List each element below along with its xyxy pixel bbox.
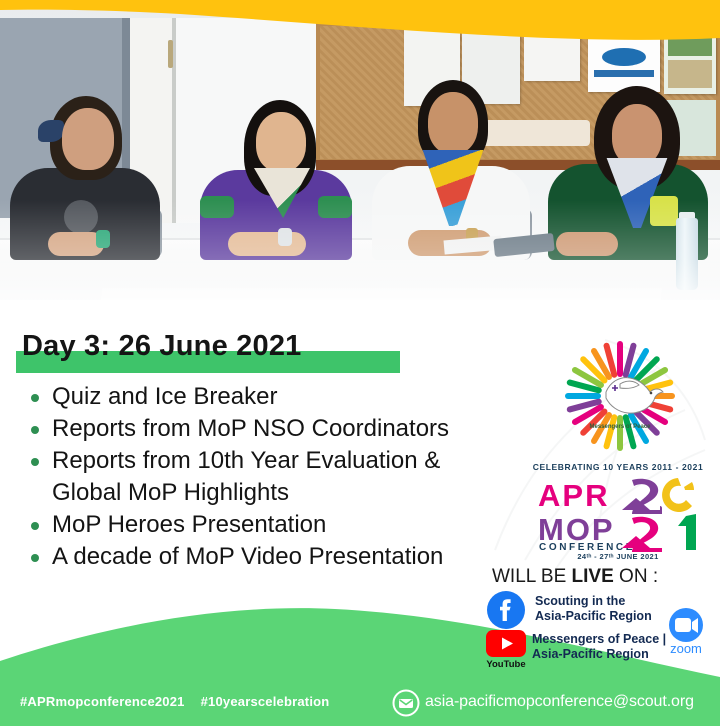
zoom-icon[interactable]: zoom [662, 607, 710, 657]
logo-conference-dates: 24ᵗʰ - 27ᵗʰ JUNE 2021 [528, 552, 708, 561]
envelope-icon [392, 689, 420, 717]
agenda-item-label: Reports from MoP NSO Coordinators [52, 415, 449, 442]
agenda-item-continuation: Global MoP Highlights [22, 478, 512, 508]
dove-caption: Messengers of Peace [589, 424, 651, 430]
live-on-post: ON : [614, 566, 658, 587]
apr-mop-2021-wordmark: APR MOP CONFERENCE [536, 474, 704, 552]
live-on-pre: WILL BE [492, 566, 572, 587]
bullet-icon [31, 394, 39, 402]
hashtag-celebration: #10yearscelebration [201, 694, 330, 709]
top-yellow-banner [0, 0, 720, 46]
live-on-heading: WILL BE LIVE ON : [492, 566, 658, 588]
youtube-icon[interactable]: YouTube [484, 630, 528, 668]
logo-conference: CONFERENCE [539, 542, 635, 552]
agenda-item-label: Reports from 10th Year Evaluation & [52, 447, 440, 474]
agenda-item: Quiz and Ice Breaker [22, 382, 512, 412]
poster-canvas: Day 3: 26 June 2021 Quiz and Ice Breaker… [0, 0, 720, 726]
youtube-wordmark: YouTube [486, 659, 525, 668]
footer-hashtags: #APRmopconference2021#10yearscelebration [20, 694, 345, 709]
agenda-item-label: A decade of MoP Video Presentation [52, 543, 443, 570]
youtube-line-2: Asia-Pacific Region [532, 647, 672, 662]
messengers-of-peace-starburst-icon: Messengers of Peace [550, 336, 690, 462]
bullet-icon [31, 522, 39, 530]
zoom-wordmark: zoom [670, 641, 702, 656]
facebook-icon[interactable] [487, 591, 525, 629]
facebook-line-1: Scouting in the [535, 594, 660, 609]
hashtag-conference: #APRmopconference2021 [20, 694, 185, 709]
facebook-line-2: Asia-Pacific Region [535, 609, 660, 624]
apr-mop-conference-logo: Messengers of Peace CELEBRATING 10 YEARS… [528, 336, 708, 568]
bullet-icon [31, 426, 39, 434]
logo-apr: APR [538, 478, 609, 513]
bullet-icon [31, 458, 39, 466]
youtube-channel-label: Messengers of Peace | Asia-Pacific Regio… [532, 632, 672, 662]
youtube-line-1: Messengers of Peace | [532, 632, 672, 647]
agenda-item: MoP Heroes Presentation [22, 510, 512, 540]
bullet-icon [31, 554, 39, 562]
facebook-channel-label: Scouting in the Asia-Pacific Region [535, 594, 660, 624]
agenda-item-label: Quiz and Ice Breaker [52, 383, 277, 410]
agenda-item: Reports from 10th Year Evaluation & [22, 446, 512, 476]
agenda-item-label: Global MoP Highlights [52, 479, 289, 506]
logo-celebrating-text: CELEBRATING 10 YEARS 2011 - 2021 [528, 462, 708, 472]
agenda-item: A decade of MoP Video Presentation [22, 542, 512, 572]
live-on-strong: LIVE [572, 566, 614, 587]
day-title: Day 3: 26 June 2021 [22, 330, 301, 363]
agenda-list: Quiz and Ice Breaker Reports from MoP NS… [22, 382, 512, 574]
footer-email: asia-pacificmopconference@scout.org [425, 693, 694, 711]
day-title-block: Day 3: 26 June 2021 [22, 330, 301, 363]
header-photo [0, 0, 720, 330]
agenda-item-label: MoP Heroes Presentation [52, 511, 326, 538]
agenda-item: Reports from MoP NSO Coordinators [22, 414, 512, 444]
